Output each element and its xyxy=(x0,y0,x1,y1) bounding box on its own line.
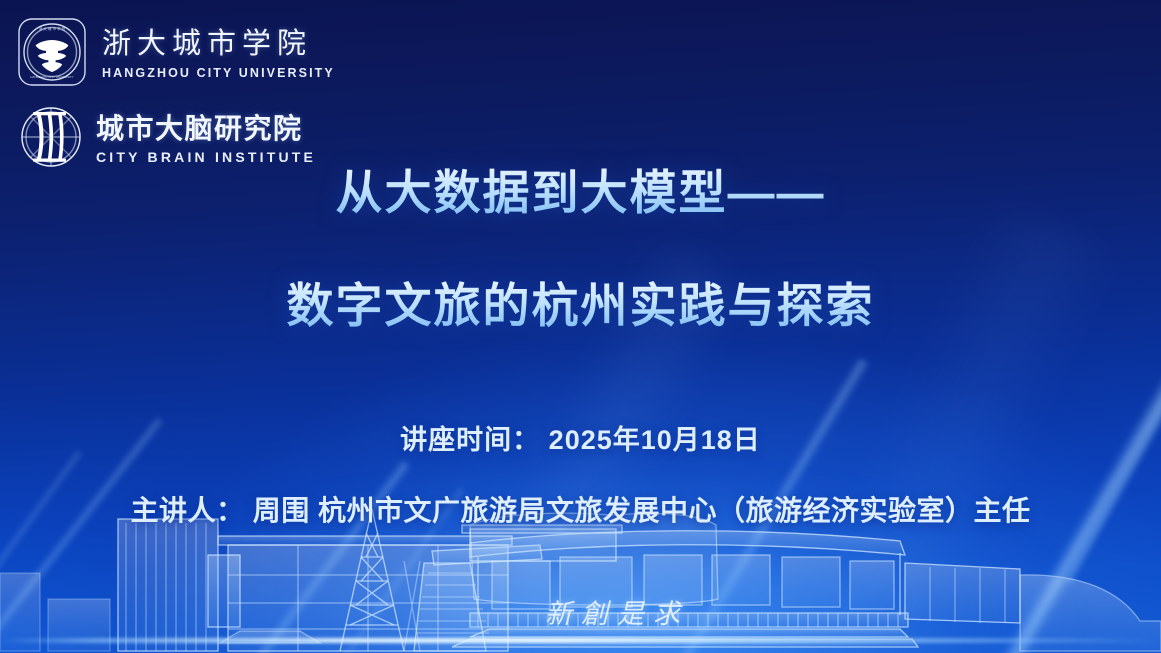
university-name-cn: 浙大城市学院 xyxy=(102,30,335,59)
horizon-glow-line xyxy=(0,638,1161,643)
city-brain-emblem-icon xyxy=(18,104,84,175)
title-line-2: 数字文旅的杭州实践与探索 xyxy=(0,281,1161,332)
logo-city-brain-institute: 城市大脑研究院 CITY BRAIN INSTITUTE xyxy=(18,104,316,175)
slide-meta: 讲座时间： 2025年10月18日 主讲人： 周围 杭州市文广旅游局文旅发展中心… xyxy=(0,418,1161,529)
title-line-1: 从大数据到大模型—— xyxy=(0,168,1161,219)
calligraphy-motto: 新創是求 xyxy=(545,592,689,631)
svg-text:HANGZHOU CITY UNIVERSITY: HANGZHOU CITY UNIVERSITY xyxy=(30,75,74,79)
svg-text:浙 大 城 市 学 院: 浙 大 城 市 学 院 xyxy=(39,26,66,31)
institute-logo-text: 城市大脑研究院 CITY BRAIN INSTITUTE xyxy=(96,115,316,165)
logo-hangzhou-city-university: 浙 大 城 市 学 院 HANGZHOU CITY UNIVERSITY 浙大城… xyxy=(14,14,335,95)
institute-name-en: CITY BRAIN INSTITUTE xyxy=(96,149,316,165)
lecture-date: 讲座时间： 2025年10月18日 xyxy=(0,418,1161,457)
university-logo-text: 浙大城市学院 HANGZHOU CITY UNIVERSITY xyxy=(102,30,335,80)
slide-title: 从大数据到大模型—— 数字文旅的杭州实践与探索 xyxy=(0,168,1161,332)
lecture-speaker: 主讲人： 周围 杭州市文广旅游局文旅发展中心（旅游经济实验室）主任 xyxy=(0,489,1161,529)
institute-name-cn: 城市大脑研究院 xyxy=(96,115,316,143)
university-crest-icon: 浙 大 城 市 学 院 HANGZHOU CITY UNIVERSITY xyxy=(14,14,90,95)
presentation-slide: 新創是求 浙 大 城 市 学 院 HANGZHOU CITY UNIVERSIT… xyxy=(0,0,1161,653)
university-name-en: HANGZHOU CITY UNIVERSITY xyxy=(102,66,335,80)
